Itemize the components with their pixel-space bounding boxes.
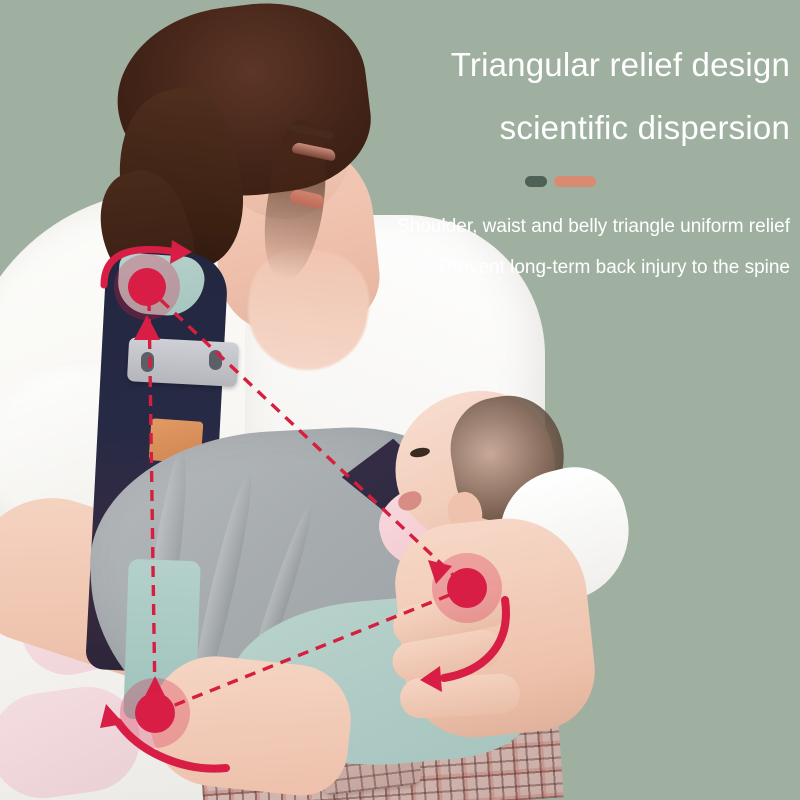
triangle-edge-waist-to-shoulder xyxy=(149,300,155,700)
divider-bar xyxy=(554,176,596,187)
belly-pressure-point xyxy=(432,553,502,623)
marketing-copy: Triangular relief design scientific disp… xyxy=(390,48,790,277)
product-banner: Triangular relief design scientific disp… xyxy=(0,0,800,800)
triangle-edge-shoulder-to-belly xyxy=(147,287,467,588)
divider-dot xyxy=(525,176,547,187)
shoulder-pressure-point xyxy=(114,254,180,320)
subline-1: Shoulder, waist and belly triangle unifo… xyxy=(390,217,790,236)
dashed-triangle xyxy=(147,287,467,713)
headline-line-1: Triangular relief design xyxy=(390,48,790,81)
decorative-divider xyxy=(390,176,730,187)
headline-line-2: scientific dispersion xyxy=(390,111,790,144)
waist-pressure-point xyxy=(120,678,190,748)
triangle-edge-belly-to-waist xyxy=(155,588,467,713)
subline-2: Prevent long-term back injury to the spi… xyxy=(390,258,790,277)
